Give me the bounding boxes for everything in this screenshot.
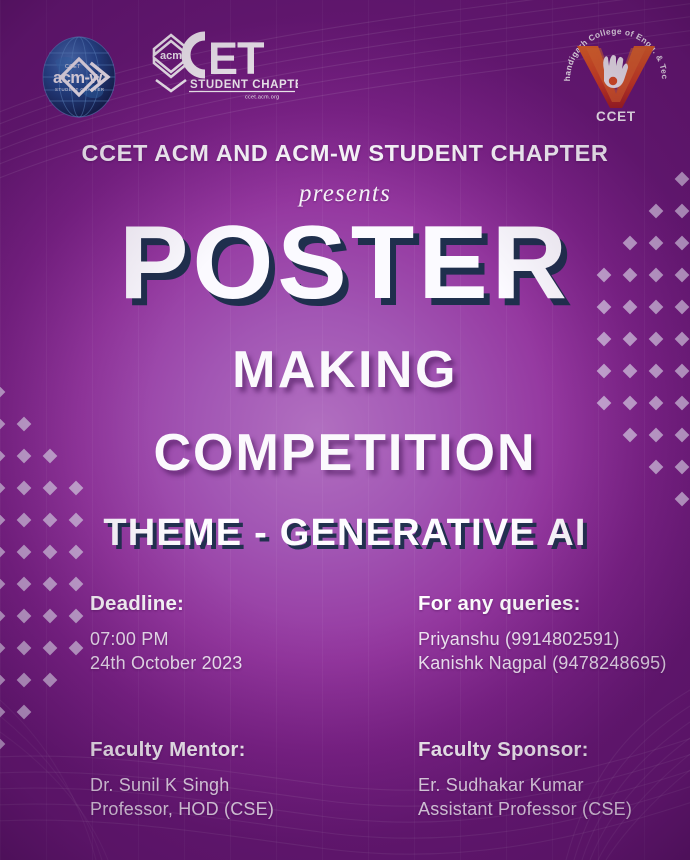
faculty-sponsor-heading: Faculty Sponsor: (418, 738, 632, 762)
poster-canvas: CCET acm-w STUDENT CHAPTER acm ET STUDEN… (0, 0, 690, 860)
title-line-poster: POSTER (0, 206, 690, 321)
presents-label: presents (0, 180, 690, 208)
faculty-mentor-name: Dr. Sunil K Singh (90, 773, 274, 797)
deadline-heading: Deadline: (90, 592, 243, 616)
faculty-mentor-designation: Professor, HOD (CSE) (90, 797, 274, 821)
ccet-college-logo: Chandigarh College of Engg. & Tech. CCET (560, 18, 672, 124)
ccet-acm-logo-sub-text: STUDENT CHAPTER (190, 79, 298, 91)
deadline-time: 07:00 PM (90, 627, 243, 651)
ccet-acm-logo-main-text: ET (208, 33, 264, 84)
queries-contact-2: Kanishk Nagpal (9478248695) (418, 651, 667, 675)
ccet-college-logo-label: CCET (596, 109, 636, 124)
faculty-sponsor-designation: Assistant Professor (CSE) (418, 797, 632, 821)
faculty-mentor-heading: Faculty Mentor: (90, 738, 274, 762)
queries-contact-1: Priyanshu (9914802591) (418, 627, 667, 651)
title-line-making: MAKING (0, 340, 690, 400)
faculty-sponsor-name: Er. Sudhakar Kumar (418, 773, 632, 797)
deadline-block: Deadline: 07:00 PM 24th October 2023 (90, 592, 243, 675)
ccet-acm-logo-url-text: ccet.acm.org (245, 95, 279, 101)
title-line-competition: COMPETITION (0, 423, 690, 483)
faculty-sponsor-block: Faculty Sponsor: Er. Sudhakar Kumar Assi… (418, 738, 632, 821)
queries-block: For any queries: Priyanshu (9914802591) … (418, 592, 667, 675)
faculty-mentor-block: Faculty Mentor: Dr. Sunil K Singh Profes… (90, 738, 274, 821)
queries-heading: For any queries: (418, 592, 667, 616)
theme-line: THEME - GENERATIVE AI (0, 510, 690, 556)
acm-w-logo: CCET acm-w STUDENT CHAPTER (37, 35, 121, 119)
ccet-acm-student-chapter-logo: acm ET STUDENT CHAPTER ccet.acm.org (148, 28, 298, 100)
chapter-line: CCET ACM AND ACM-W STUDENT CHAPTER (0, 140, 690, 167)
deadline-date: 24th October 2023 (90, 651, 243, 675)
ccet-acm-logo-acm-mark: acm (160, 50, 182, 62)
logo-bar: CCET acm-w STUDENT CHAPTER acm ET STUDEN… (0, 0, 690, 128)
